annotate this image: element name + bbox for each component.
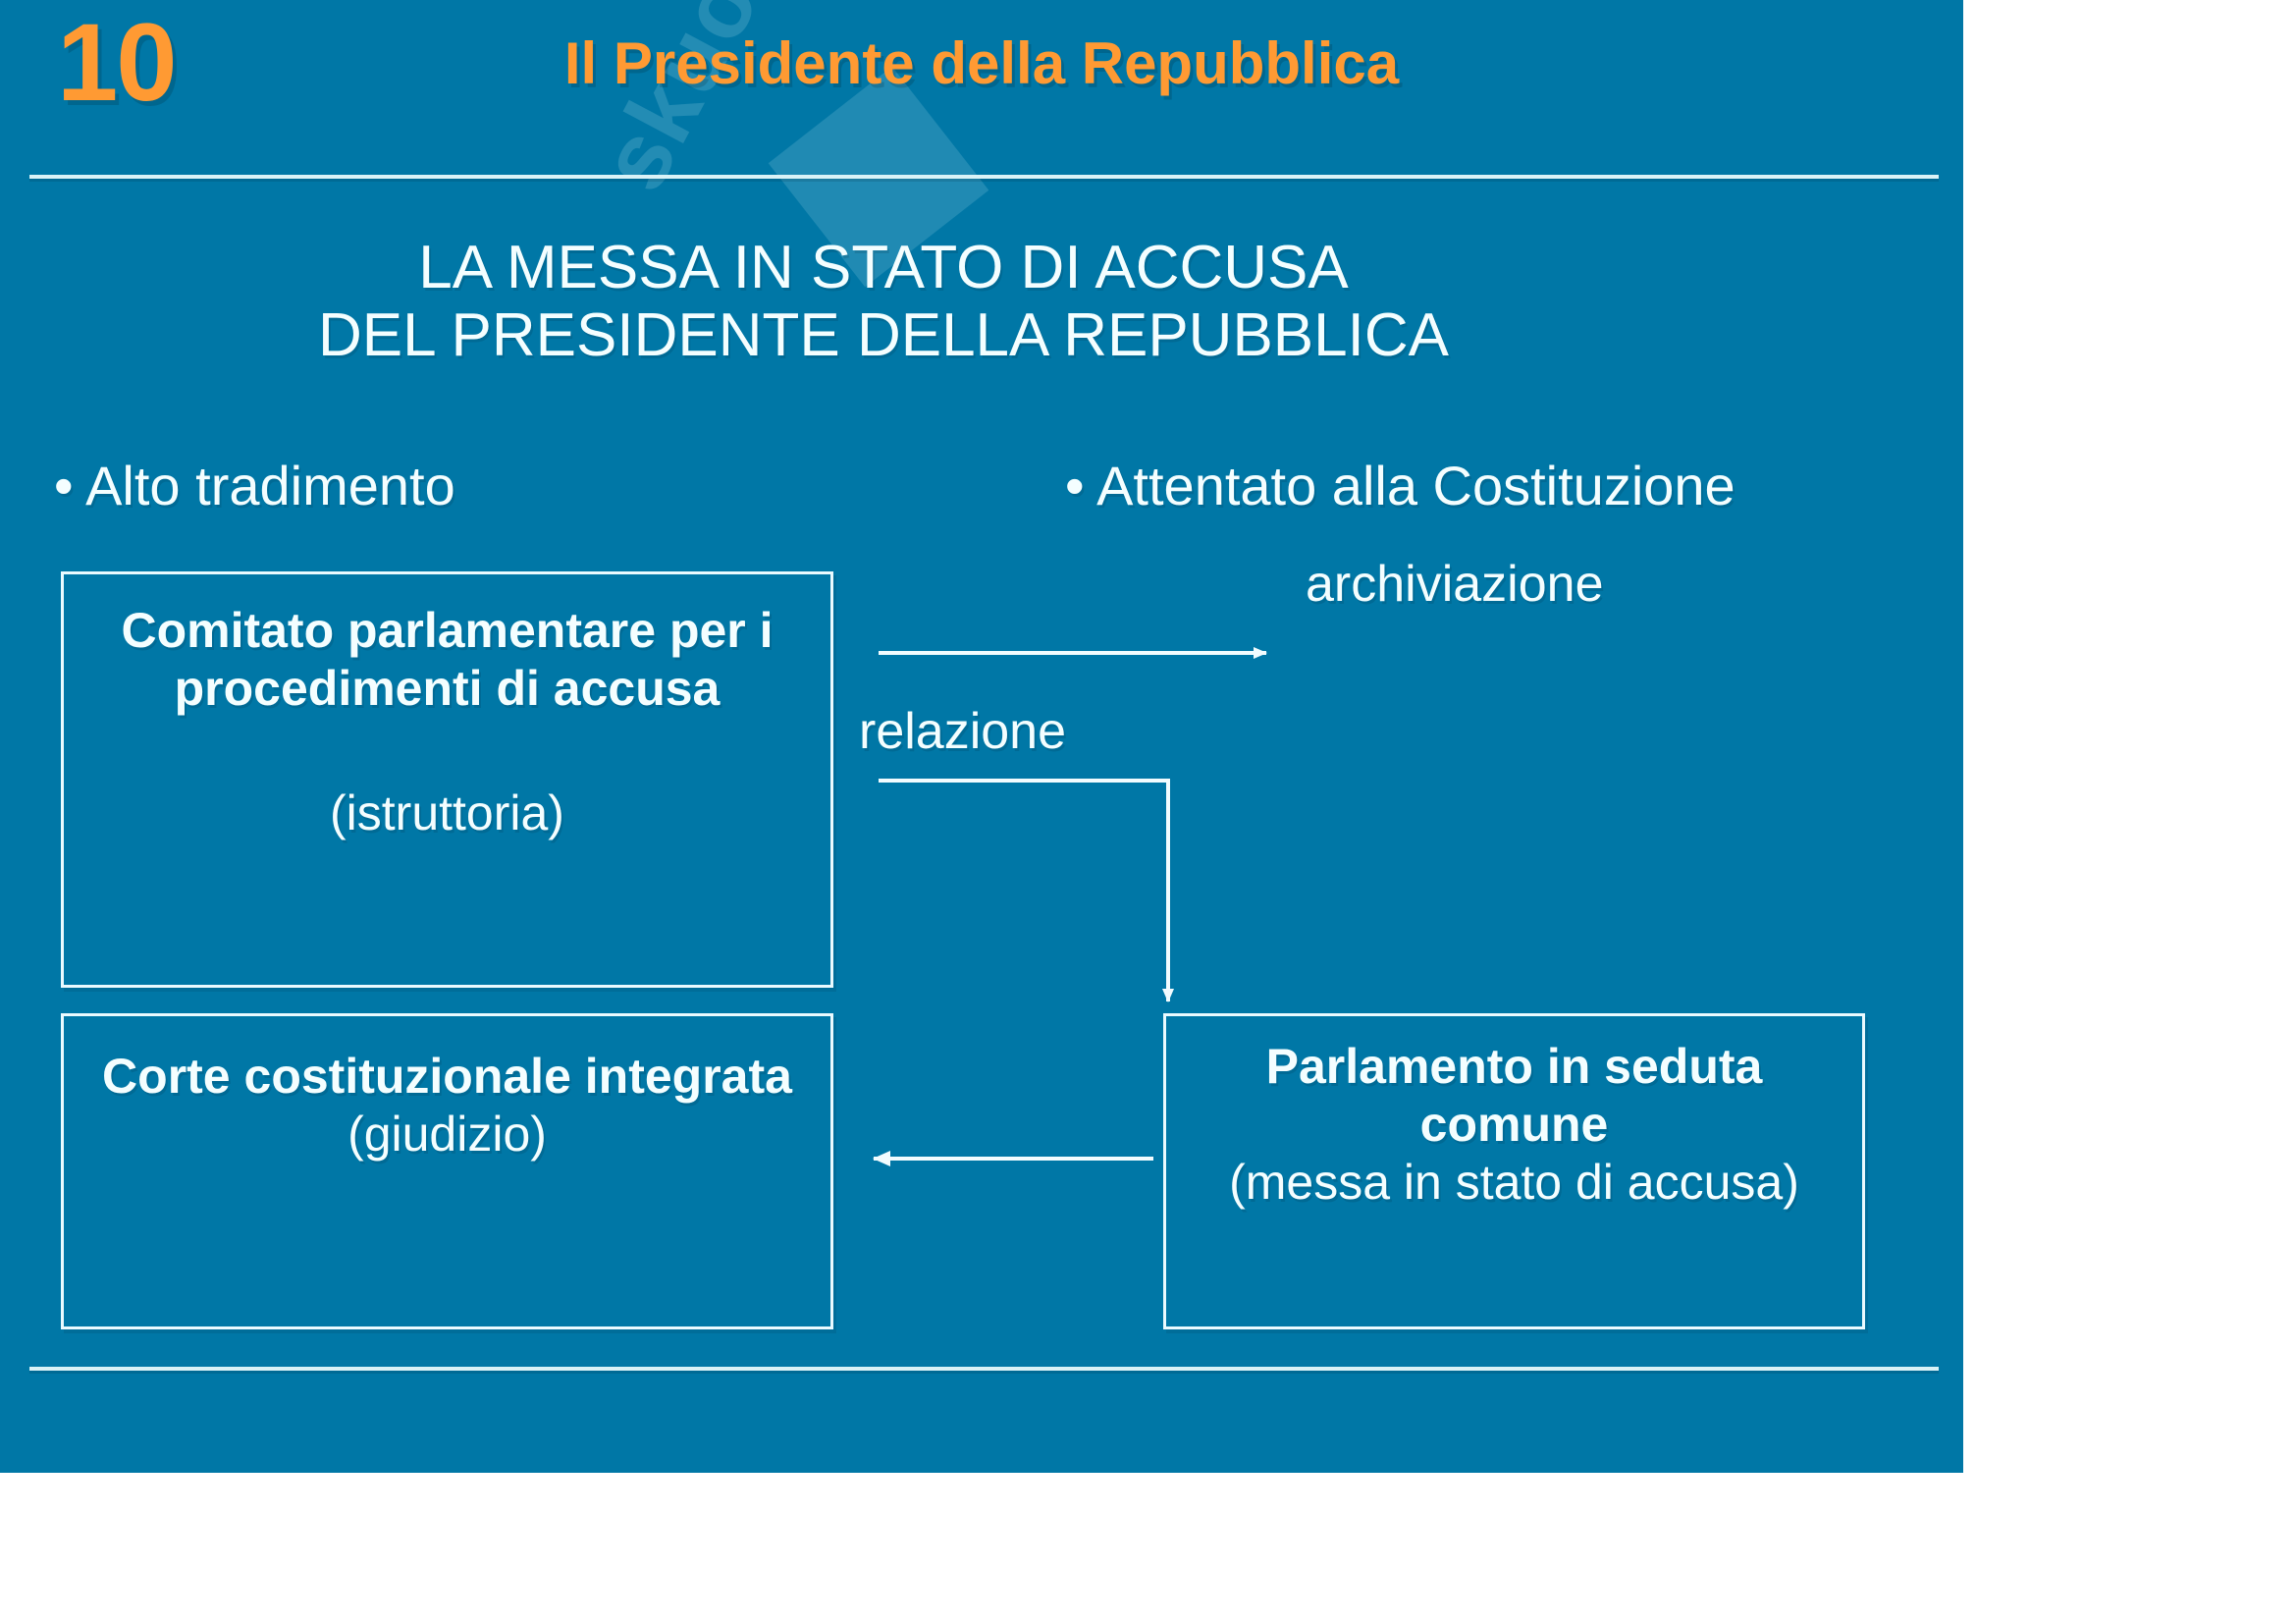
flow-box-subtitle: (giudizio): [64, 1106, 830, 1163]
bullet-label: Attentato alla Costituzione: [1096, 455, 1735, 516]
slide-canvas: skuola.net 10 Il Presidente della Repubb…: [0, 0, 1963, 1473]
flow-box-title: Comitato parlamentare per i procedimenti…: [64, 602, 830, 718]
flow-box-subtitle: (istruttoria): [64, 784, 830, 842]
flow-box-comitato-parlamentare: Comitato parlamentare per i procedimenti…: [61, 571, 833, 988]
arrow-relazione: [879, 781, 1168, 1001]
flow-box-subtitle: (messa in stato di accusa): [1166, 1154, 1862, 1212]
bullet-marker-icon: •: [1065, 455, 1085, 516]
flow-box-corte-costituzionale: Corte costituzionale integrata (giudizio…: [61, 1013, 833, 1329]
page-title-line-1: LA MESSA IN STATO DI ACCUSA: [0, 234, 1767, 301]
footer-divider: [29, 1367, 1939, 1371]
bullet-item-alto-tradimento: • Alto tradimento: [54, 454, 455, 517]
edge-label-archiviazione: archiviazione: [1306, 555, 1604, 614]
flow-box-title: Parlamento in seduta comune: [1166, 1038, 1862, 1154]
flow-box-parlamento-seduta-comune: Parlamento in seduta comune (messa in st…: [1163, 1013, 1865, 1329]
bullet-label: Alto tradimento: [85, 455, 455, 516]
page-title: LA MESSA IN STATO DI ACCUSA DEL PRESIDEN…: [0, 234, 1767, 370]
edge-label-relazione: relazione: [859, 702, 1066, 761]
bullet-item-attentato-costituzione: • Attentato alla Costituzione: [1065, 454, 1735, 517]
slide-header: 10 Il Presidente della Repubblica: [0, 0, 1963, 182]
bullet-marker-icon: •: [54, 455, 74, 516]
header-title: Il Presidente della Repubblica: [0, 29, 1963, 97]
page-title-line-2: DEL PRESIDENTE DELLA REPUBBLICA: [0, 301, 1767, 369]
header-divider: [29, 175, 1939, 179]
flow-box-title: Corte costituzionale integrata: [64, 1048, 830, 1106]
